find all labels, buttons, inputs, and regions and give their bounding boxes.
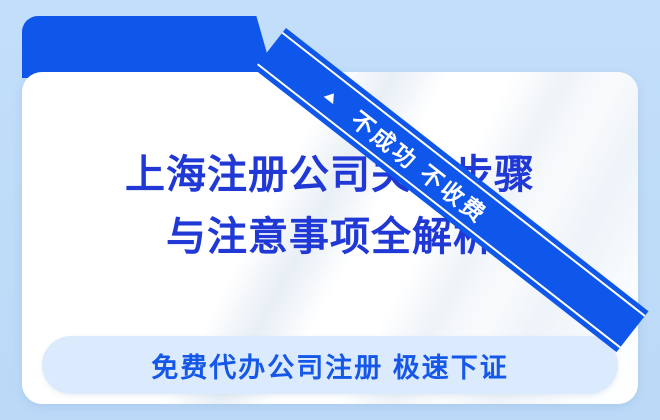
footer-cta-text: 免费代办公司注册 极速下证	[151, 346, 509, 385]
triangle-up-icon	[324, 89, 339, 103]
brand-tab	[22, 16, 274, 78]
promo-poster: 上海壹隆 上海注册公司关键步骤 与注意事项全解析 免费代办公司注册 极速下证 不…	[0, 0, 660, 420]
headline-line-1: 上海注册公司关键步骤	[22, 144, 638, 206]
footer-cta-pill[interactable]: 免费代办公司注册 极速下证	[42, 336, 618, 394]
